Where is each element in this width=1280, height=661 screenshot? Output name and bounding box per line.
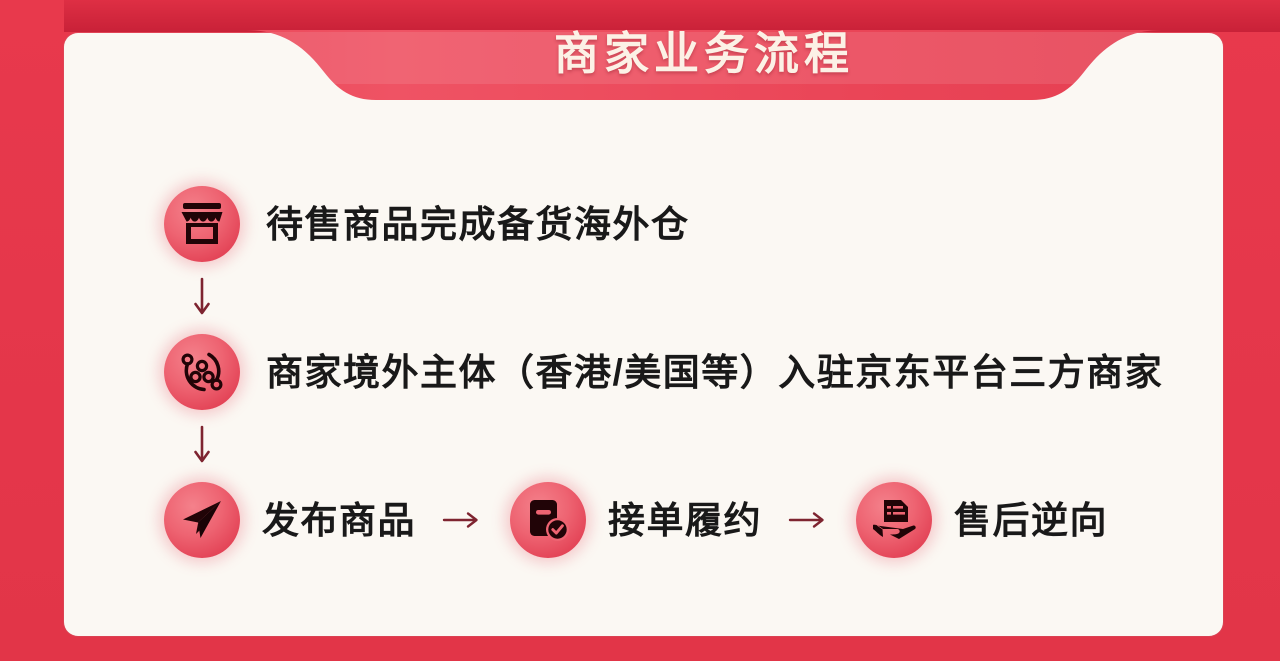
flow-final-step-2[interactable]: 接单履约	[510, 482, 762, 558]
flow-final-step-3[interactable]: 售后逆向	[856, 482, 1108, 558]
flow-step-2[interactable]: 商家境外主体（香港/美国等）入驻京东平台三方商家	[164, 324, 1224, 420]
connector-down-arrow-2	[164, 420, 1224, 472]
flow-step-2-label: 商家境外主体（香港/美国等）入驻京东平台三方商家	[266, 354, 1163, 391]
screenshot-root: 商家业务流程 待售商品完成备货海外仓	[0, 0, 1280, 661]
page-title: 商家业务流程	[64, 26, 1280, 82]
right-arrow-icon	[788, 509, 830, 531]
storefront-icon	[164, 186, 240, 262]
flow-card: 商家业务流程 待售商品完成备货海外仓	[64, 33, 1223, 636]
document-check-glyph-icon	[525, 497, 571, 543]
molecule-glyph-icon	[178, 348, 226, 396]
connector-down-arrow-1	[164, 272, 1224, 324]
flow-final-step-3-label: 售后逆向	[954, 502, 1108, 539]
process-flow: 待售商品完成备货海外仓	[164, 176, 1224, 568]
molecule-network-icon	[164, 334, 240, 410]
flow-step-1[interactable]: 待售商品完成备货海外仓	[164, 176, 1224, 272]
paper-plane-glyph-icon	[179, 498, 225, 542]
paper-plane-icon	[164, 482, 240, 558]
title-ribbon: 商家业务流程	[64, 0, 1280, 122]
flow-separator-arrow-2	[784, 509, 834, 531]
document-check-icon	[510, 482, 586, 558]
flow-step-1-label: 待售商品完成备货海外仓	[266, 206, 690, 243]
flow-final-step-1-label: 发布商品	[262, 502, 416, 539]
down-arrow-icon	[192, 425, 212, 467]
flow-final-row: 发布商品	[164, 472, 1224, 568]
hand-document-glyph-icon	[870, 498, 918, 542]
storefront-glyph-icon	[179, 202, 225, 246]
flow-final-step-2-label: 接单履约	[608, 502, 762, 539]
down-arrow-icon	[192, 277, 212, 319]
hand-document-icon	[856, 482, 932, 558]
right-arrow-icon	[442, 509, 484, 531]
flow-final-step-1[interactable]: 发布商品	[164, 482, 416, 558]
flow-separator-arrow-1	[438, 509, 488, 531]
